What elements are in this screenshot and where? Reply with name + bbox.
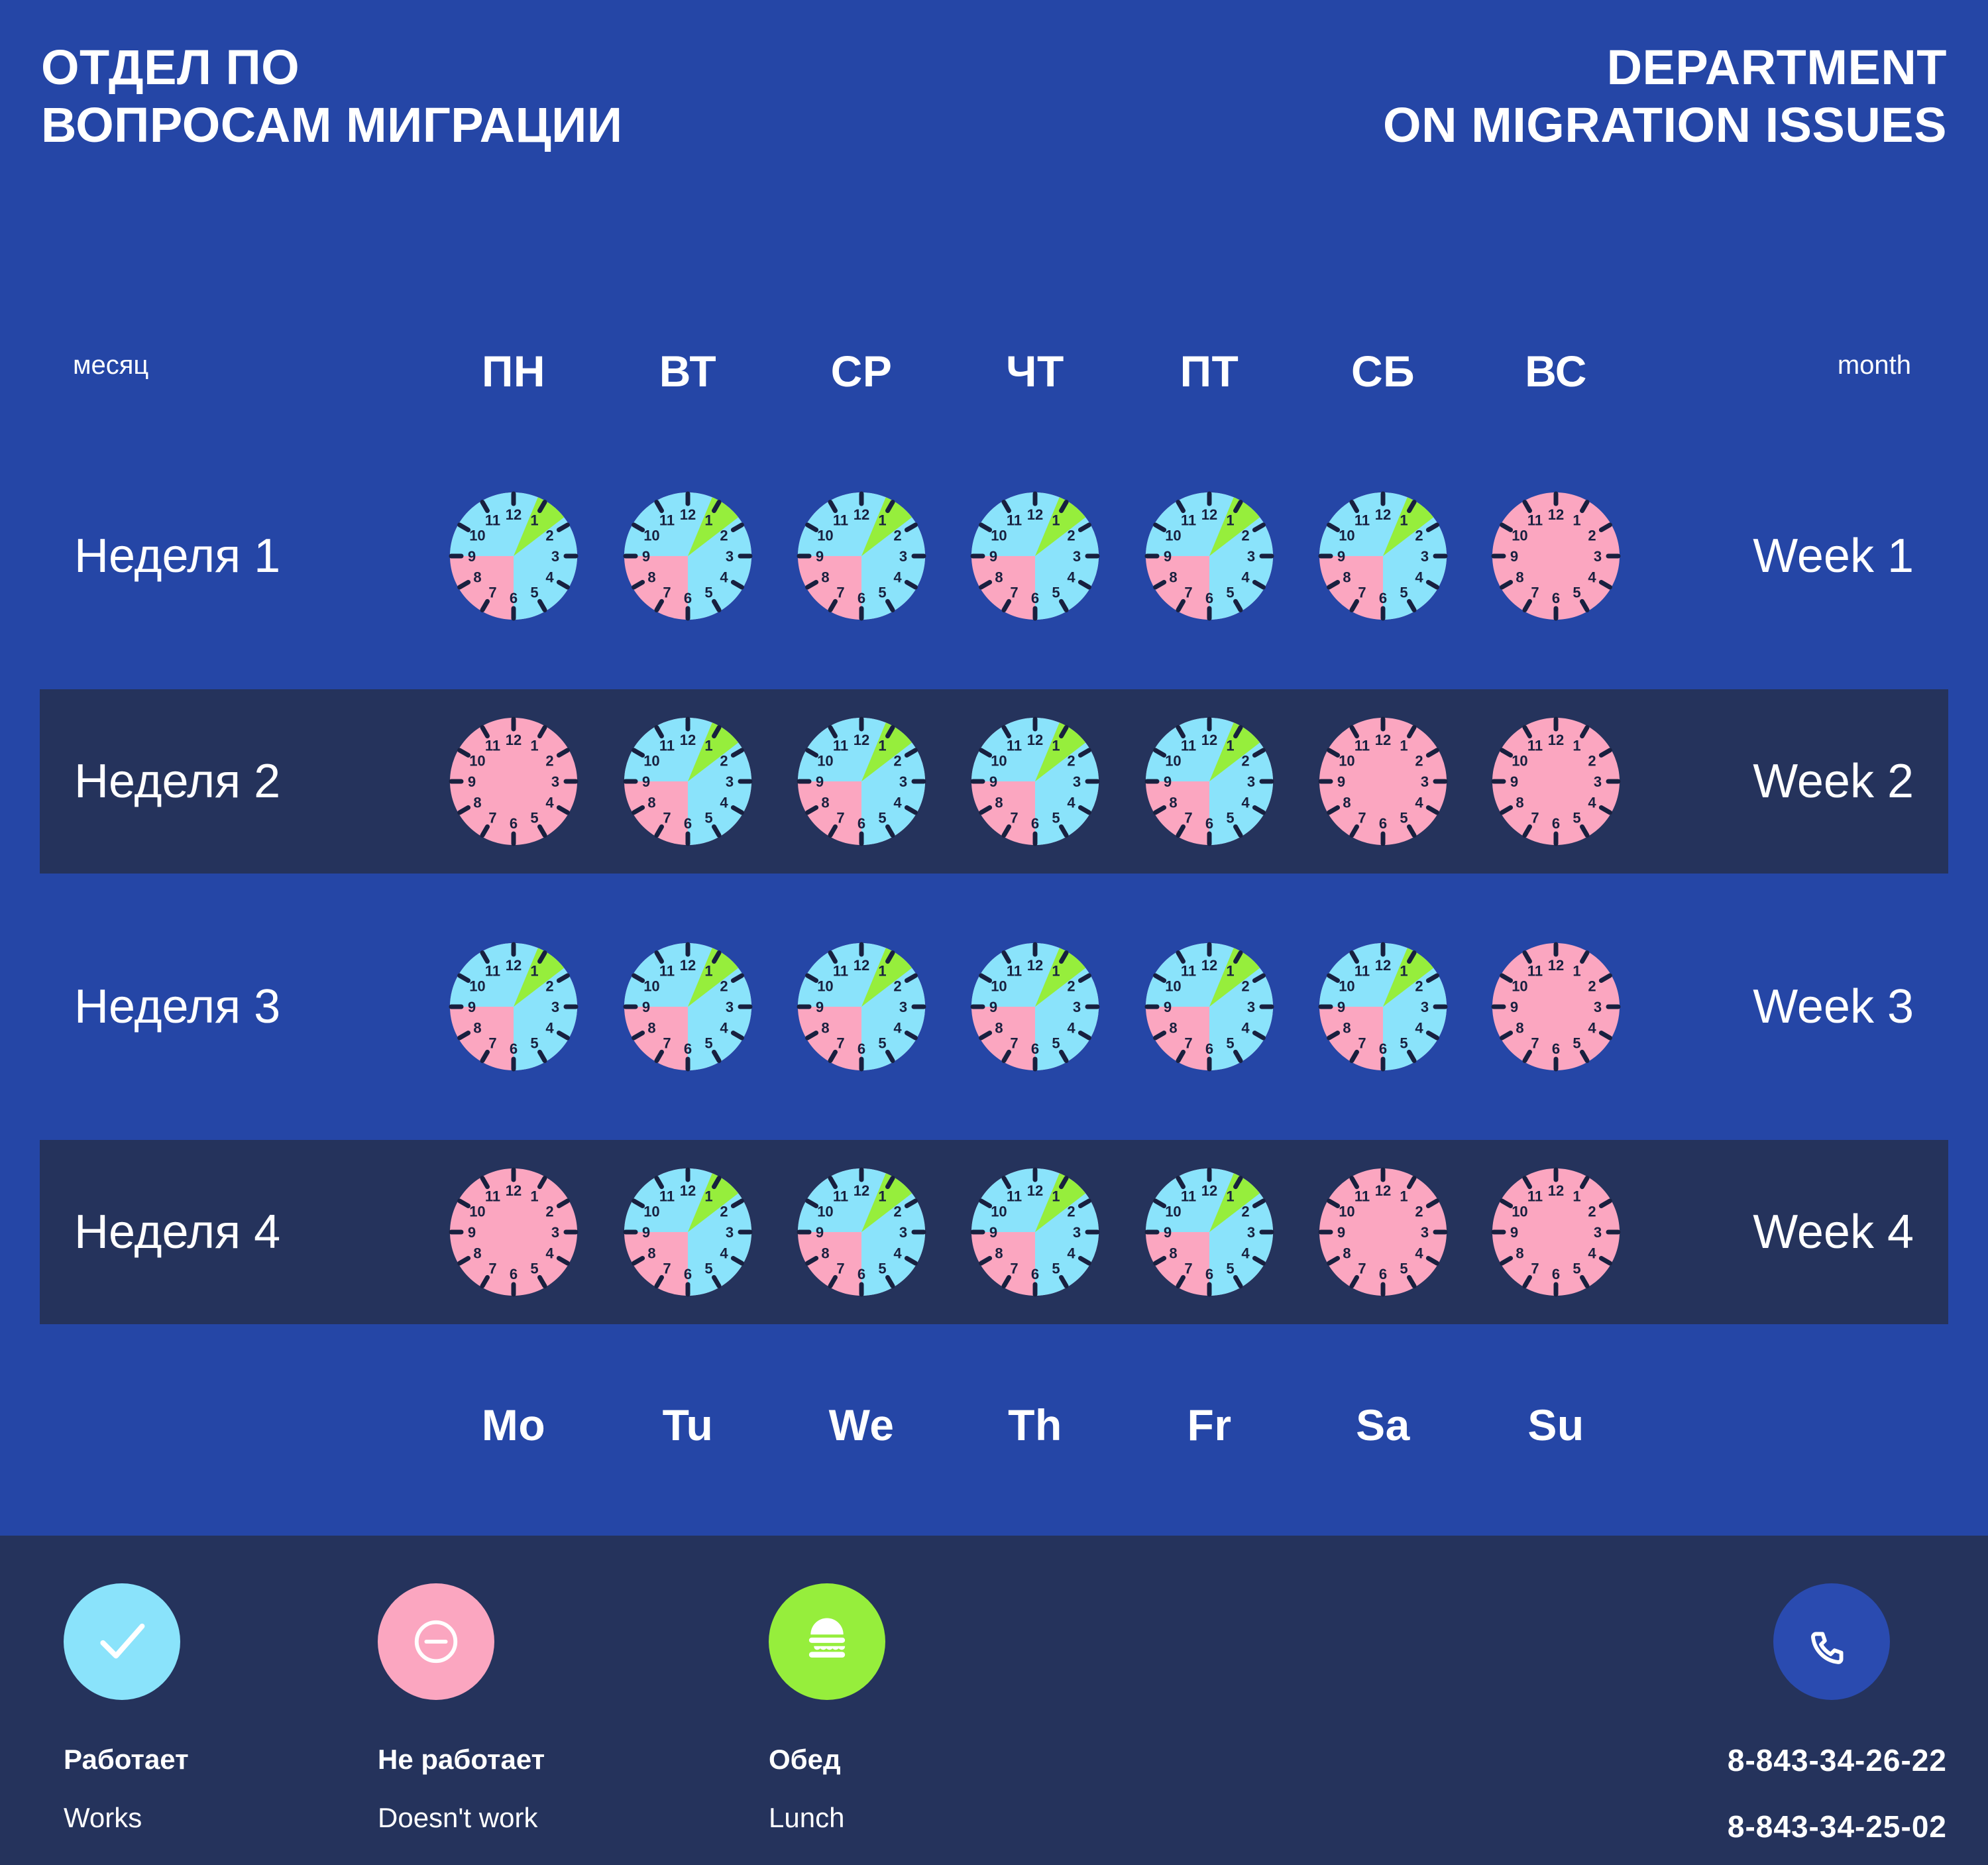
- svg-text:6: 6: [510, 1266, 518, 1282]
- svg-text:9: 9: [468, 548, 476, 565]
- svg-text:6: 6: [1205, 1041, 1213, 1057]
- svg-text:8: 8: [1169, 1020, 1177, 1037]
- footer-legend: РаботаетWorksНе работаетDoesn't workОбед…: [0, 1536, 1988, 1865]
- clock-face: 121234567891011: [1314, 1163, 1452, 1301]
- svg-text:5: 5: [530, 810, 538, 826]
- svg-text:5: 5: [878, 810, 886, 826]
- svg-text:2: 2: [1241, 1204, 1249, 1220]
- svg-text:7: 7: [488, 810, 496, 826]
- svg-text:12: 12: [1027, 957, 1043, 974]
- svg-text:2: 2: [1241, 753, 1249, 769]
- svg-text:1: 1: [704, 962, 712, 979]
- svg-text:3: 3: [1073, 999, 1081, 1015]
- svg-text:11: 11: [1354, 1188, 1370, 1204]
- svg-text:5: 5: [878, 1261, 886, 1277]
- svg-text:9: 9: [1164, 1224, 1172, 1241]
- svg-text:1: 1: [1400, 737, 1408, 754]
- svg-text:3: 3: [551, 773, 559, 790]
- svg-text:4: 4: [545, 795, 554, 811]
- legend-item-burger: ОбедLunch: [769, 1583, 885, 1834]
- week-label-ru-4: Неделя 4: [74, 1205, 280, 1259]
- svg-text:7: 7: [1010, 1035, 1018, 1052]
- title-en-line2: ON MIGRATION ISSUES: [1383, 96, 1947, 154]
- svg-text:12: 12: [1027, 732, 1043, 748]
- clock-w1-d3-works: 121234567891011: [793, 487, 930, 625]
- svg-text:6: 6: [1552, 1041, 1560, 1057]
- minus-circle-icon: [410, 1616, 462, 1667]
- svg-text:4: 4: [720, 795, 728, 811]
- day-header-en-2: Tu: [615, 1388, 761, 1461]
- svg-text:12: 12: [1201, 957, 1217, 974]
- svg-text:3: 3: [1247, 548, 1255, 565]
- clock-w2-d3-works: 121234567891011: [793, 712, 930, 850]
- svg-text:2: 2: [1588, 978, 1596, 995]
- svg-text:8: 8: [473, 1020, 481, 1037]
- svg-text:8: 8: [1169, 569, 1177, 586]
- svg-text:4: 4: [893, 795, 902, 811]
- day-header-en-7: Su: [1483, 1388, 1629, 1461]
- clock-face: 121234567891011: [619, 938, 757, 1076]
- svg-text:10: 10: [817, 528, 833, 544]
- clock-face: 121234567891011: [1487, 938, 1625, 1076]
- phone-number-2[interactable]: 8-843-34-25-02: [1728, 1809, 1947, 1844]
- svg-text:5: 5: [704, 810, 712, 826]
- svg-text:10: 10: [991, 978, 1007, 995]
- svg-text:7: 7: [1010, 810, 1018, 826]
- svg-text:11: 11: [833, 737, 848, 754]
- week-row-3: Неделя 3Week 312123456789101112123456789…: [0, 915, 1988, 1099]
- clock-w1-d7-closed: 121234567891011: [1487, 487, 1625, 625]
- clock-w4-d7-closed: 121234567891011: [1487, 1163, 1625, 1301]
- svg-text:11: 11: [1527, 962, 1543, 979]
- svg-text:9: 9: [1337, 999, 1345, 1015]
- svg-text:3: 3: [726, 548, 734, 565]
- svg-text:7: 7: [1184, 1035, 1192, 1052]
- svg-text:8: 8: [821, 795, 829, 811]
- svg-text:2: 2: [1588, 1204, 1596, 1220]
- svg-text:3: 3: [1073, 548, 1081, 565]
- legend-label-en-2: Doesn't work: [378, 1802, 545, 1834]
- svg-text:12: 12: [1375, 1182, 1391, 1199]
- infographic-page: ОТДЕЛ ПО ВОПРОСАМ МИГРАЦИИ DEPARTMENT ON…: [0, 0, 1988, 1865]
- svg-text:10: 10: [1512, 753, 1527, 769]
- svg-text:10: 10: [1339, 528, 1354, 544]
- svg-text:11: 11: [1527, 1188, 1543, 1204]
- clock-w1-d2-works: 121234567891011: [619, 487, 757, 625]
- svg-text:4: 4: [1415, 569, 1423, 586]
- clock-w4-d1-closed: 121234567891011: [445, 1163, 582, 1301]
- svg-text:1: 1: [1226, 962, 1234, 979]
- clock-face: 121234567891011: [966, 487, 1104, 625]
- svg-text:8: 8: [821, 1245, 829, 1262]
- svg-text:12: 12: [1375, 957, 1391, 974]
- title-ru-line2: ВОПРОСАМ МИГРАЦИИ: [41, 96, 623, 154]
- week-row-2: Неделя 2Week 212123456789101112123456789…: [0, 689, 1988, 874]
- legend-item-minus-circle: Не работаетDoesn't work: [378, 1583, 545, 1834]
- svg-text:9: 9: [1164, 773, 1172, 790]
- svg-text:12: 12: [1548, 732, 1564, 748]
- week-label-en-4: Week 4: [1753, 1205, 1914, 1259]
- svg-text:10: 10: [643, 528, 659, 544]
- clock-w4-d2-works: 121234567891011: [619, 1163, 757, 1301]
- svg-text:4: 4: [1241, 1245, 1250, 1262]
- svg-text:6: 6: [857, 590, 865, 606]
- legend-label-en-1: Works: [64, 1802, 189, 1834]
- svg-text:10: 10: [991, 1204, 1007, 1220]
- svg-text:10: 10: [469, 1204, 485, 1220]
- svg-text:6: 6: [1552, 815, 1560, 832]
- svg-text:2: 2: [1067, 528, 1075, 544]
- svg-text:5: 5: [1226, 810, 1234, 826]
- clock-w4-d6-closed: 121234567891011: [1314, 1163, 1452, 1301]
- svg-text:11: 11: [659, 512, 675, 528]
- svg-text:5: 5: [1052, 585, 1060, 601]
- svg-text:6: 6: [1031, 590, 1039, 606]
- phone-icon-bubble[interactable]: [1773, 1583, 1890, 1700]
- svg-text:1: 1: [1573, 512, 1580, 528]
- svg-text:4: 4: [893, 1020, 902, 1037]
- week-row-4: Неделя 4Week 412123456789101112123456789…: [0, 1140, 1988, 1324]
- svg-text:6: 6: [510, 1041, 518, 1057]
- legend-label-en-3: Lunch: [769, 1802, 885, 1834]
- svg-text:2: 2: [545, 1204, 553, 1220]
- svg-text:11: 11: [1181, 737, 1196, 754]
- svg-text:4: 4: [1415, 1245, 1423, 1262]
- legend-label-ru-2: Не работает: [378, 1744, 545, 1776]
- svg-text:1: 1: [1400, 962, 1408, 979]
- day-header-row-ru: месяц month ПНВТСРЧТПТСБВС: [0, 335, 1988, 408]
- svg-text:6: 6: [684, 590, 692, 606]
- svg-text:7: 7: [1531, 1261, 1539, 1277]
- svg-text:8: 8: [995, 1245, 1003, 1262]
- svg-text:8: 8: [473, 1245, 481, 1262]
- svg-text:2: 2: [893, 528, 901, 544]
- svg-text:7: 7: [488, 585, 496, 601]
- svg-text:4: 4: [720, 569, 728, 586]
- svg-text:3: 3: [1421, 999, 1429, 1015]
- svg-text:9: 9: [468, 773, 476, 790]
- svg-text:9: 9: [989, 773, 997, 790]
- page-title-en: DEPARTMENT ON MIGRATION ISSUES: [1383, 38, 1947, 154]
- svg-text:2: 2: [720, 1204, 728, 1220]
- svg-text:1: 1: [878, 1188, 886, 1204]
- svg-text:10: 10: [1165, 978, 1181, 995]
- week-label-en-3: Week 3: [1753, 980, 1914, 1034]
- svg-text:10: 10: [1512, 978, 1527, 995]
- svg-text:3: 3: [1073, 773, 1081, 790]
- day-header-ru-1: ПН: [441, 335, 586, 408]
- phone-icon: [1808, 1618, 1855, 1665]
- clock-w2-d7-closed: 121234567891011: [1487, 712, 1625, 850]
- svg-text:5: 5: [1573, 1035, 1580, 1052]
- svg-text:7: 7: [1184, 585, 1192, 601]
- svg-text:11: 11: [1527, 512, 1543, 528]
- svg-text:8: 8: [1169, 1245, 1177, 1262]
- svg-text:7: 7: [1358, 810, 1366, 826]
- svg-text:9: 9: [816, 773, 824, 790]
- svg-text:5: 5: [1052, 1035, 1060, 1052]
- svg-text:5: 5: [878, 585, 886, 601]
- svg-text:10: 10: [1165, 1204, 1181, 1220]
- svg-text:8: 8: [1169, 795, 1177, 811]
- svg-text:11: 11: [659, 737, 675, 754]
- svg-text:8: 8: [995, 795, 1003, 811]
- svg-text:1: 1: [1573, 1188, 1580, 1204]
- svg-text:9: 9: [1164, 548, 1172, 565]
- svg-text:4: 4: [545, 1245, 554, 1262]
- svg-text:3: 3: [1421, 1224, 1429, 1241]
- svg-text:12: 12: [680, 957, 696, 974]
- svg-text:10: 10: [1339, 753, 1354, 769]
- clock-w2-d4-works: 121234567891011: [966, 712, 1104, 850]
- week-label-ru-1: Неделя 1: [74, 529, 280, 583]
- svg-text:7: 7: [663, 810, 671, 826]
- clock-w3-d2-works: 121234567891011: [619, 938, 757, 1076]
- svg-text:12: 12: [506, 732, 522, 748]
- svg-text:2: 2: [1415, 978, 1423, 995]
- svg-text:6: 6: [1031, 1041, 1039, 1057]
- svg-text:12: 12: [506, 957, 522, 974]
- clock-w3-d7-closed: 121234567891011: [1487, 938, 1625, 1076]
- svg-text:2: 2: [720, 528, 728, 544]
- svg-text:8: 8: [647, 795, 655, 811]
- clock-w1-d4-works: 121234567891011: [966, 487, 1104, 625]
- clock-face: 121234567891011: [966, 712, 1104, 850]
- check-icon: [93, 1613, 150, 1670]
- svg-text:11: 11: [1181, 512, 1196, 528]
- svg-text:7: 7: [836, 1035, 844, 1052]
- svg-text:2: 2: [893, 978, 901, 995]
- svg-text:1: 1: [878, 512, 886, 528]
- svg-text:5: 5: [1400, 1035, 1408, 1052]
- svg-text:4: 4: [1241, 569, 1250, 586]
- svg-text:9: 9: [816, 548, 824, 565]
- svg-text:11: 11: [1354, 512, 1370, 528]
- svg-text:9: 9: [1510, 1224, 1518, 1241]
- clock-face: 121234567891011: [1314, 938, 1452, 1076]
- clock-w3-d1-works: 121234567891011: [445, 938, 582, 1076]
- svg-text:4: 4: [720, 1020, 728, 1037]
- svg-text:12: 12: [1201, 1182, 1217, 1199]
- svg-text:10: 10: [643, 753, 659, 769]
- svg-text:1: 1: [1573, 737, 1580, 754]
- svg-text:4: 4: [545, 569, 554, 586]
- week-label-ru-3: Неделя 3: [74, 980, 280, 1034]
- svg-text:1: 1: [1052, 1188, 1060, 1204]
- svg-text:4: 4: [1241, 795, 1250, 811]
- svg-text:1: 1: [1226, 1188, 1234, 1204]
- svg-text:3: 3: [1421, 773, 1429, 790]
- svg-text:6: 6: [1379, 590, 1387, 606]
- svg-text:8: 8: [647, 569, 655, 586]
- day-header-ru-2: ВТ: [615, 335, 761, 408]
- svg-text:1: 1: [1226, 512, 1234, 528]
- svg-text:4: 4: [1241, 1020, 1250, 1037]
- svg-text:7: 7: [1358, 585, 1366, 601]
- svg-text:7: 7: [1531, 585, 1539, 601]
- svg-text:1: 1: [530, 962, 538, 979]
- svg-text:9: 9: [468, 1224, 476, 1241]
- day-header-ru-7: ВС: [1483, 335, 1629, 408]
- svg-text:7: 7: [663, 1261, 671, 1277]
- svg-text:2: 2: [1067, 753, 1075, 769]
- svg-text:7: 7: [1531, 1035, 1539, 1052]
- svg-text:4: 4: [1067, 795, 1076, 811]
- clock-face: 121234567891011: [793, 938, 930, 1076]
- svg-text:11: 11: [1527, 737, 1543, 754]
- svg-text:8: 8: [1343, 1245, 1351, 1262]
- svg-text:8: 8: [647, 1245, 655, 1262]
- svg-text:3: 3: [1594, 548, 1602, 565]
- svg-text:2: 2: [1588, 753, 1596, 769]
- svg-text:5: 5: [1573, 585, 1580, 601]
- month-label-ru: месяц: [73, 351, 148, 380]
- svg-text:2: 2: [1067, 978, 1075, 995]
- day-header-ru-6: СБ: [1310, 335, 1456, 408]
- day-header-ru-4: ЧТ: [962, 335, 1108, 408]
- clock-face: 121234567891011: [1487, 487, 1625, 625]
- svg-text:7: 7: [836, 1261, 844, 1277]
- svg-text:1: 1: [1052, 737, 1060, 754]
- svg-text:7: 7: [1358, 1261, 1366, 1277]
- header: ОТДЕЛ ПО ВОПРОСАМ МИГРАЦИИ DEPARTMENT ON…: [0, 0, 1988, 219]
- svg-text:5: 5: [1400, 810, 1408, 826]
- svg-text:4: 4: [1588, 1245, 1596, 1262]
- svg-text:9: 9: [1510, 999, 1518, 1015]
- svg-text:12: 12: [506, 1182, 522, 1199]
- burger-icon: [802, 1617, 852, 1666]
- month-label-en: month: [1838, 351, 1911, 380]
- clock-face: 121234567891011: [793, 1163, 930, 1301]
- week-label-en-1: Week 1: [1753, 529, 1914, 583]
- svg-text:2: 2: [545, 978, 553, 995]
- svg-text:3: 3: [899, 1224, 907, 1241]
- svg-text:6: 6: [1031, 815, 1039, 832]
- svg-text:12: 12: [854, 506, 869, 523]
- svg-text:4: 4: [1067, 1245, 1076, 1262]
- svg-text:2: 2: [1415, 528, 1423, 544]
- svg-text:9: 9: [1164, 999, 1172, 1015]
- svg-text:5: 5: [530, 1261, 538, 1277]
- title-en-line1: DEPARTMENT: [1383, 38, 1947, 96]
- clock-face: 121234567891011: [1487, 1163, 1625, 1301]
- svg-text:6: 6: [510, 815, 518, 832]
- svg-text:10: 10: [469, 978, 485, 995]
- svg-text:2: 2: [720, 978, 728, 995]
- svg-text:5: 5: [1573, 810, 1580, 826]
- svg-text:9: 9: [989, 1224, 997, 1241]
- svg-text:9: 9: [1337, 1224, 1345, 1241]
- svg-text:10: 10: [1339, 978, 1354, 995]
- svg-text:6: 6: [1205, 815, 1213, 832]
- svg-text:7: 7: [836, 810, 844, 826]
- svg-text:7: 7: [1184, 810, 1192, 826]
- svg-text:11: 11: [833, 512, 848, 528]
- svg-text:12: 12: [854, 1182, 869, 1199]
- svg-text:5: 5: [878, 1035, 886, 1052]
- svg-text:2: 2: [545, 528, 553, 544]
- svg-text:12: 12: [680, 732, 696, 748]
- svg-text:9: 9: [1510, 548, 1518, 565]
- svg-text:10: 10: [1339, 1204, 1354, 1220]
- svg-text:1: 1: [1400, 512, 1408, 528]
- svg-text:3: 3: [899, 773, 907, 790]
- svg-text:8: 8: [821, 1020, 829, 1037]
- svg-text:7: 7: [1010, 1261, 1018, 1277]
- svg-text:5: 5: [530, 1035, 538, 1052]
- svg-text:3: 3: [726, 999, 734, 1015]
- svg-text:11: 11: [485, 737, 500, 754]
- svg-text:12: 12: [680, 1182, 696, 1199]
- svg-text:6: 6: [684, 815, 692, 832]
- svg-text:5: 5: [1400, 1261, 1408, 1277]
- day-header-ru-5: ПТ: [1136, 335, 1282, 408]
- phone-number-1[interactable]: 8-843-34-26-22: [1728, 1742, 1947, 1778]
- svg-text:9: 9: [642, 1224, 650, 1241]
- svg-text:9: 9: [642, 773, 650, 790]
- clock-face: 121234567891011: [966, 938, 1104, 1076]
- svg-text:2: 2: [1415, 753, 1423, 769]
- clock-w3-d5-works: 121234567891011: [1140, 938, 1278, 1076]
- clock-face: 121234567891011: [619, 487, 757, 625]
- svg-text:4: 4: [1067, 1020, 1076, 1037]
- svg-text:5: 5: [1400, 585, 1408, 601]
- svg-text:6: 6: [1205, 590, 1213, 606]
- svg-text:6: 6: [1552, 590, 1560, 606]
- title-ru-line1: ОТДЕЛ ПО: [41, 38, 623, 96]
- svg-text:6: 6: [684, 1041, 692, 1057]
- week-row-1: Неделя 1Week 112123456789101112123456789…: [0, 464, 1988, 648]
- svg-text:6: 6: [1379, 1041, 1387, 1057]
- svg-text:4: 4: [1067, 569, 1076, 586]
- svg-text:9: 9: [816, 999, 824, 1015]
- svg-text:7: 7: [488, 1035, 496, 1052]
- svg-text:8: 8: [1343, 795, 1351, 811]
- svg-text:10: 10: [469, 528, 485, 544]
- svg-text:1: 1: [1052, 962, 1060, 979]
- svg-text:3: 3: [551, 1224, 559, 1241]
- svg-text:7: 7: [1358, 1035, 1366, 1052]
- clock-w2-d5-works: 121234567891011: [1140, 712, 1278, 850]
- svg-text:8: 8: [1516, 795, 1523, 811]
- svg-text:3: 3: [899, 999, 907, 1015]
- svg-text:10: 10: [817, 978, 833, 995]
- svg-text:6: 6: [510, 590, 518, 606]
- svg-text:2: 2: [893, 753, 901, 769]
- svg-text:11: 11: [485, 1188, 500, 1204]
- clock-face: 121234567891011: [1314, 712, 1452, 850]
- svg-text:10: 10: [991, 528, 1007, 544]
- svg-text:6: 6: [1379, 815, 1387, 832]
- svg-text:1: 1: [530, 1188, 538, 1204]
- svg-text:2: 2: [1588, 528, 1596, 544]
- svg-text:4: 4: [1415, 795, 1423, 811]
- svg-text:3: 3: [551, 548, 559, 565]
- contact-block: 8-843-34-26-22 8-843-34-25-02: [1728, 1583, 1947, 1844]
- svg-text:11: 11: [1007, 737, 1022, 754]
- clock-face: 121234567891011: [445, 487, 582, 625]
- svg-text:7: 7: [488, 1261, 496, 1277]
- svg-text:1: 1: [1400, 1188, 1408, 1204]
- clock-face: 121234567891011: [445, 1163, 582, 1301]
- clock-face: 121234567891011: [619, 712, 757, 850]
- svg-text:12: 12: [854, 957, 869, 974]
- clock-w3-d4-works: 121234567891011: [966, 938, 1104, 1076]
- svg-text:10: 10: [1512, 528, 1527, 544]
- svg-text:1: 1: [1052, 512, 1060, 528]
- svg-text:3: 3: [551, 999, 559, 1015]
- svg-text:1: 1: [530, 737, 538, 754]
